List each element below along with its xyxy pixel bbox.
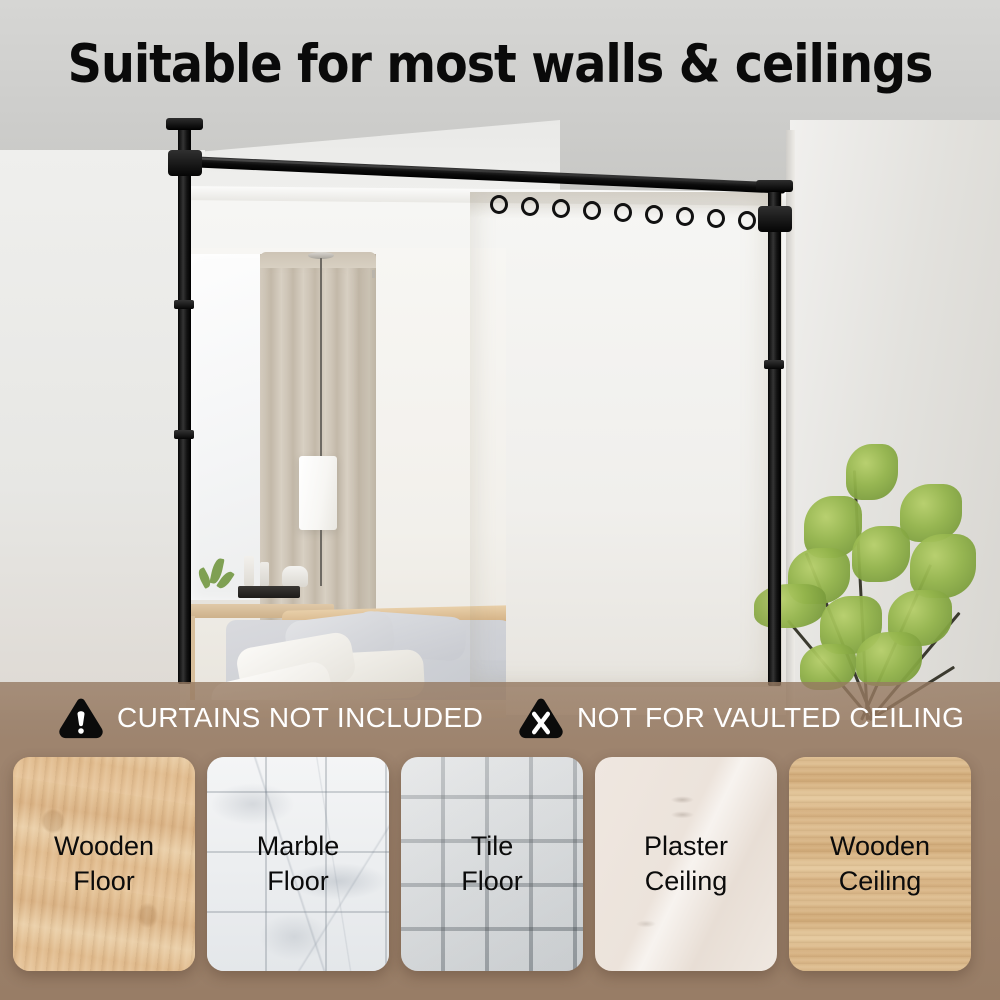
surface-card-wooden-floor[interactable]: Wooden Floor <box>13 757 195 971</box>
left-post-collar-upper <box>174 300 194 309</box>
surface-card-tile-floor[interactable]: Tile Floor <box>401 757 583 971</box>
table-vase-1 <box>244 556 254 586</box>
pendant-lamp-shade <box>299 456 337 530</box>
surface-card-plaster-ceiling[interactable]: Plaster Ceiling <box>595 757 777 971</box>
right-ceiling-flange <box>756 180 793 192</box>
right-tee-joint <box>758 206 792 232</box>
bedroom-rod-bracket <box>372 270 375 278</box>
left-post-collar-lower <box>174 430 194 439</box>
left-tee-joint <box>168 150 202 176</box>
warning-label: NOT FOR VAULTED CEILING <box>577 702 964 734</box>
table-books <box>238 586 300 598</box>
surface-card-label: Marble Floor <box>207 829 389 899</box>
warning-label: CURTAINS NOT INCLUDED <box>117 702 483 734</box>
surface-card-label: Plaster Ceiling <box>595 829 777 899</box>
surface-card-label: Wooden Floor <box>13 829 195 899</box>
pendant-stem-upper <box>320 258 322 458</box>
surface-cards-row: Wooden Floor Marble Floor Tile Floor Pla… <box>0 757 1000 971</box>
table-vase-2 <box>260 562 269 586</box>
cream-curtain-panel <box>470 192 782 687</box>
bedroom-scene <box>186 248 506 718</box>
green-plant <box>760 430 990 720</box>
left-ceiling-flange <box>166 118 203 130</box>
pendant-stem-lower <box>320 530 322 586</box>
right-post-collar <box>764 360 784 369</box>
product-marketing-image: Suitable for most walls & ceilings CURTA… <box>0 0 1000 1000</box>
warning-row: CURTAINS NOT INCLUDED NOT FOR VAULTED CE… <box>0 690 1000 746</box>
surface-card-label: Wooden Ceiling <box>789 829 971 899</box>
warning-curtains-not-included: CURTAINS NOT INCLUDED <box>58 690 483 746</box>
warning-exclamation-triangle-icon <box>58 697 104 739</box>
surface-card-marble-floor[interactable]: Marble Floor <box>207 757 389 971</box>
surface-card-label: Tile Floor <box>401 829 583 899</box>
left-vertical-post <box>178 124 191 684</box>
warning-cross-triangle-icon <box>518 697 564 739</box>
beige-floor-curtain <box>260 254 376 624</box>
surface-card-wooden-ceiling[interactable]: Wooden Ceiling <box>789 757 971 971</box>
right-vertical-post <box>768 186 781 686</box>
warning-not-for-vaulted-ceiling: NOT FOR VAULTED CEILING <box>518 690 964 746</box>
window-plant <box>196 548 238 596</box>
page-title: Suitable for most walls & ceilings <box>50 36 950 94</box>
table-kettle <box>282 566 308 587</box>
